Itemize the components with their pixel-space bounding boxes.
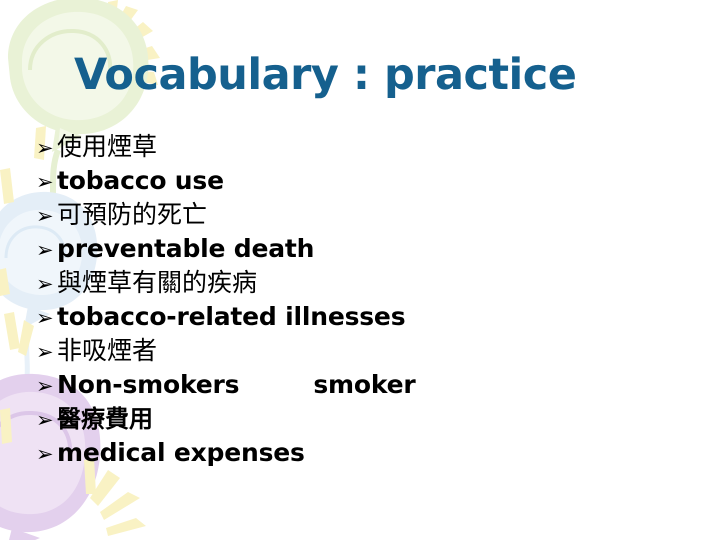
list-item-label: tobacco-related illnesses <box>57 300 405 334</box>
list-item: ➢非吸煙者 <box>36 334 696 368</box>
arrowhead-bullet-icon: ➢ <box>36 131 57 165</box>
arrowhead-bullet-icon: ➢ <box>36 403 57 437</box>
arrowhead-bullet-icon: ➢ <box>36 301 57 335</box>
bullet-list: ➢使用煙草 ➢tobacco use ➢可預防的死亡 ➢preventable … <box>36 130 696 470</box>
slide-title: Vocabulary : practice <box>74 52 674 98</box>
arrowhead-bullet-icon: ➢ <box>36 199 57 233</box>
list-item: ➢與煙草有關的疾病 <box>36 266 696 300</box>
ray-cluster-bottom-left <box>84 458 146 540</box>
ray-cluster-middle-left <box>0 268 34 356</box>
arrowhead-bullet-icon: ➢ <box>36 233 57 267</box>
arrowhead-bullet-icon: ➢ <box>36 267 57 301</box>
list-item-label: Non-smokers <box>57 368 239 402</box>
list-item: ➢tobacco use <box>36 164 696 198</box>
list-item: ➢medical expenses <box>36 436 696 470</box>
list-item-label: 與煙草有關的疾病 <box>57 266 257 300</box>
arrowhead-bullet-icon: ➢ <box>36 437 57 471</box>
arrowhead-bullet-icon: ➢ <box>36 335 57 369</box>
list-item: ➢可預防的死亡 <box>36 198 696 232</box>
list-item: ➢醫療費用 <box>36 402 696 436</box>
list-item-label: 非吸煙者 <box>57 334 157 368</box>
list-item: ➢Non-smokerssmoker <box>36 368 696 402</box>
list-item-label-secondary: smoker <box>313 368 415 402</box>
list-item: ➢preventable death <box>36 232 696 266</box>
list-item-label: 醫療費用 <box>57 402 153 436</box>
list-item-label: medical expenses <box>57 436 305 470</box>
list-item-label: tobacco use <box>57 164 224 198</box>
arrowhead-bullet-icon: ➢ <box>36 165 57 199</box>
list-item: ➢使用煙草 <box>36 130 696 164</box>
arrowhead-bullet-icon: ➢ <box>36 369 57 403</box>
list-item-label: 可預防的死亡 <box>57 198 207 232</box>
list-item-label: 使用煙草 <box>57 130 157 164</box>
slide-canvas: Vocabulary : practice ➢使用煙草 ➢tobacco use… <box>0 0 720 540</box>
list-item: ➢tobacco-related illnesses <box>36 300 696 334</box>
list-item-label: preventable death <box>57 232 314 266</box>
